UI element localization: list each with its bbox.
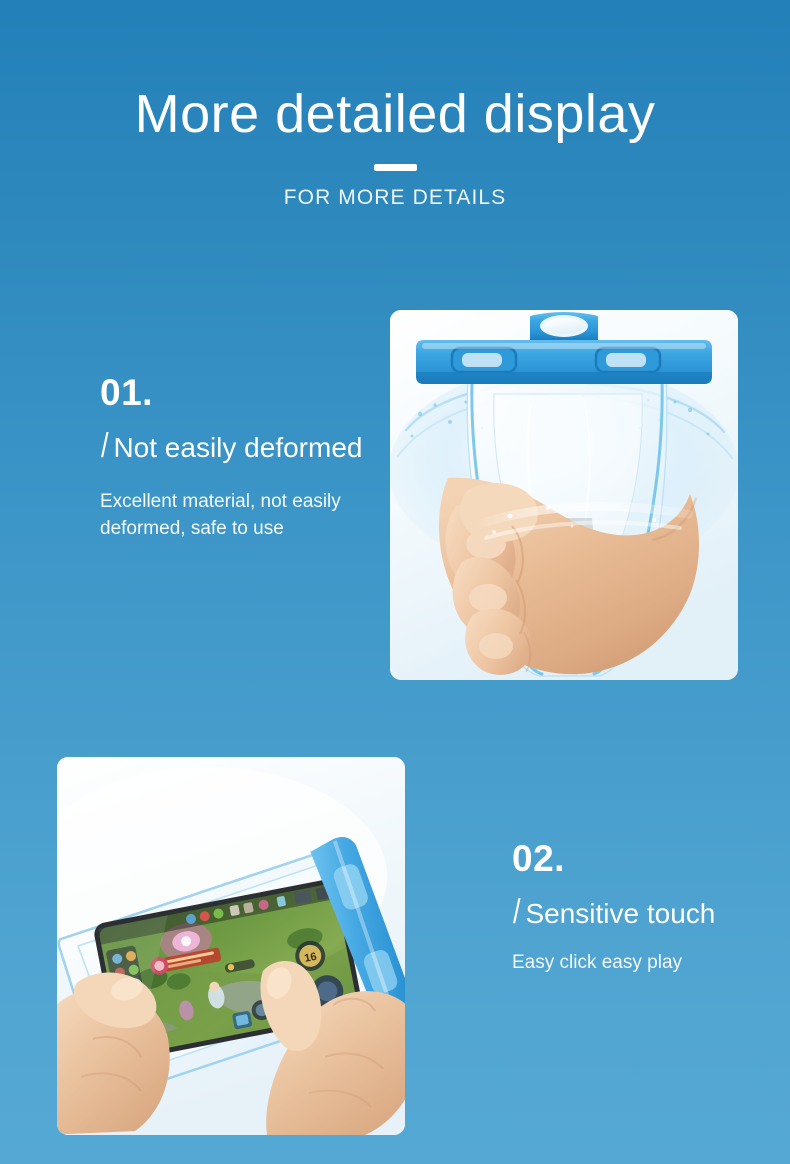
product-detail-page: More detailed display FOR MORE DETAILS 0… bbox=[0, 0, 790, 1164]
feature-description-01: Excellent material, not easily deformed,… bbox=[100, 488, 400, 542]
gaming-illustration: 16 bbox=[57, 757, 405, 1135]
feature-title-01: Not easily deformed bbox=[113, 430, 362, 466]
product-photo-gaming: 16 bbox=[57, 757, 405, 1135]
feature-block-02: 02. / Sensitive touch Easy click easy pl… bbox=[512, 838, 777, 976]
feature-block-01: 01. / Not easily deformed Excellent mate… bbox=[100, 372, 400, 542]
title-divider bbox=[374, 164, 417, 171]
feature-title-row-01: / Not easily deformed bbox=[100, 427, 400, 466]
slash-icon: / bbox=[513, 893, 521, 931]
page-header: More detailed display FOR MORE DETAILS bbox=[0, 84, 790, 211]
feature-number-02: 02. bbox=[512, 838, 777, 880]
page-subtitle: FOR MORE DETAILS bbox=[0, 185, 790, 211]
feature-title-02: Sensitive touch bbox=[525, 896, 715, 932]
feature-description-02: Easy click easy play bbox=[512, 949, 777, 976]
squeeze-test-illustration bbox=[390, 310, 738, 680]
feature-number-01: 01. bbox=[100, 372, 400, 414]
feature-title-row-02: / Sensitive touch bbox=[512, 893, 777, 932]
page-title: More detailed display bbox=[0, 84, 790, 144]
product-photo-squeeze-test bbox=[390, 310, 738, 680]
svg-text:16: 16 bbox=[303, 951, 317, 965]
slash-icon: / bbox=[101, 427, 109, 465]
